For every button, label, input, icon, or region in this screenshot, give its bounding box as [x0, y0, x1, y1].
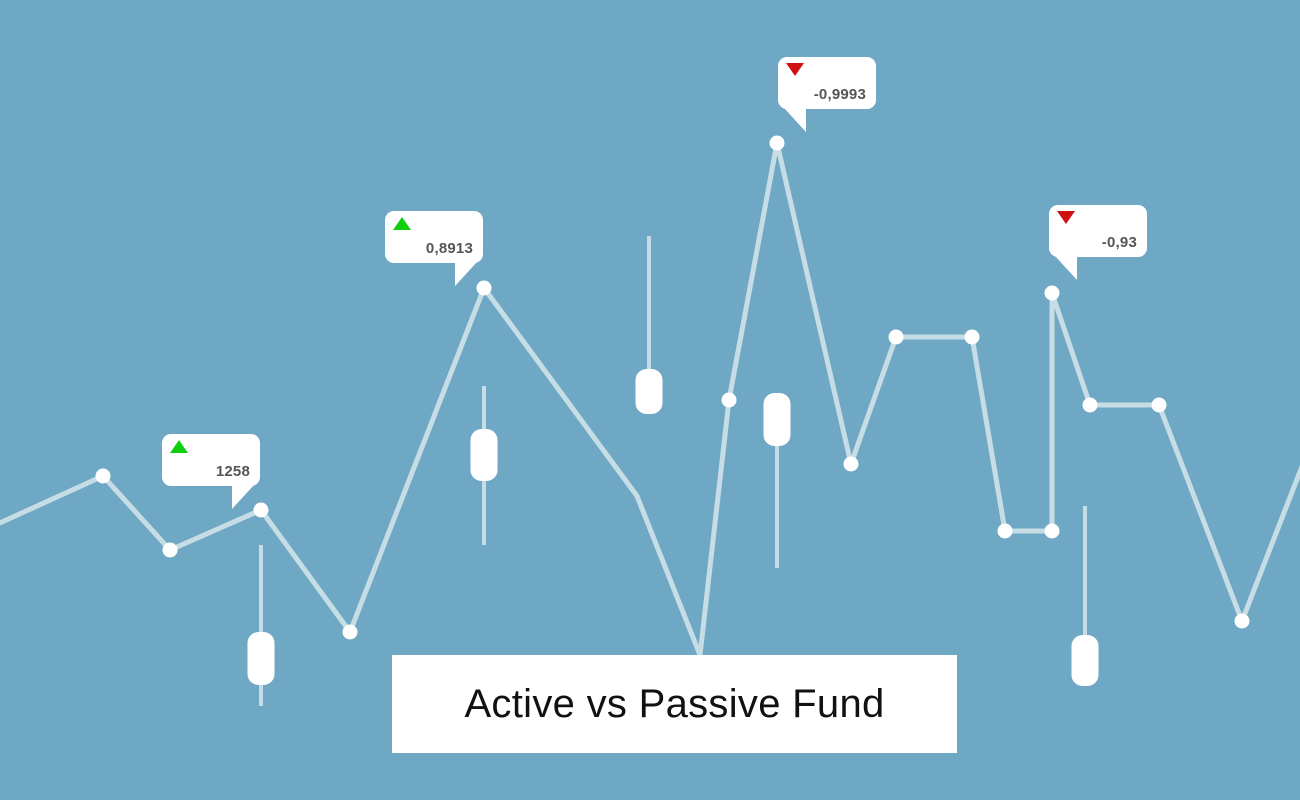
data-point-marker[interactable]: [1045, 286, 1060, 301]
candlestick-body: [471, 429, 498, 481]
callout-value-label: 1258: [170, 463, 250, 480]
data-point-marker[interactable]: [343, 625, 358, 640]
data-point-marker[interactable]: [96, 469, 111, 484]
value-callout[interactable]: -0,93: [1049, 205, 1147, 257]
value-callout[interactable]: 0,8913: [385, 211, 483, 263]
data-point-marker[interactable]: [965, 330, 980, 345]
candlestick-body: [764, 393, 791, 446]
candlestick-body: [1072, 635, 1099, 686]
data-point-marker[interactable]: [1045, 524, 1060, 539]
triangle-up-icon: [170, 440, 188, 453]
data-point-marker[interactable]: [1235, 614, 1250, 629]
callout-tail: [232, 485, 254, 509]
title-banner: Active vs Passive Fund: [392, 655, 957, 753]
candlestick-group: [248, 236, 1099, 706]
candlestick-body: [636, 369, 663, 414]
candlestick-body: [248, 632, 275, 685]
page-title: Active vs Passive Fund: [464, 682, 884, 727]
data-point-marker[interactable]: [163, 543, 178, 558]
data-point-marker[interactable]: [770, 136, 785, 151]
data-point-marker[interactable]: [889, 330, 904, 345]
value-callout[interactable]: 1258: [162, 434, 260, 486]
triangle-down-icon: [786, 63, 804, 76]
triangle-down-icon: [1057, 211, 1075, 224]
callout-tail: [1055, 256, 1077, 280]
triangle-up-icon: [393, 217, 411, 230]
data-point-marker[interactable]: [477, 281, 492, 296]
callout-tail: [455, 262, 477, 286]
callout-value-label: -0,93: [1057, 234, 1137, 251]
data-point-marker[interactable]: [254, 503, 269, 518]
callout-value-label: 0,8913: [393, 240, 473, 257]
data-point-marker[interactable]: [844, 457, 859, 472]
data-point-marker[interactable]: [1083, 398, 1098, 413]
callout-value-label: -0,9993: [786, 86, 866, 103]
value-callout[interactable]: -0,9993: [778, 57, 876, 109]
data-point-marker[interactable]: [1152, 398, 1167, 413]
data-point-marker[interactable]: [998, 524, 1013, 539]
callout-tail: [784, 108, 806, 132]
data-point-marker[interactable]: [722, 393, 737, 408]
chart-canvas: 12580,8913-0,9993-0,93 Active vs Passive…: [0, 0, 1300, 800]
